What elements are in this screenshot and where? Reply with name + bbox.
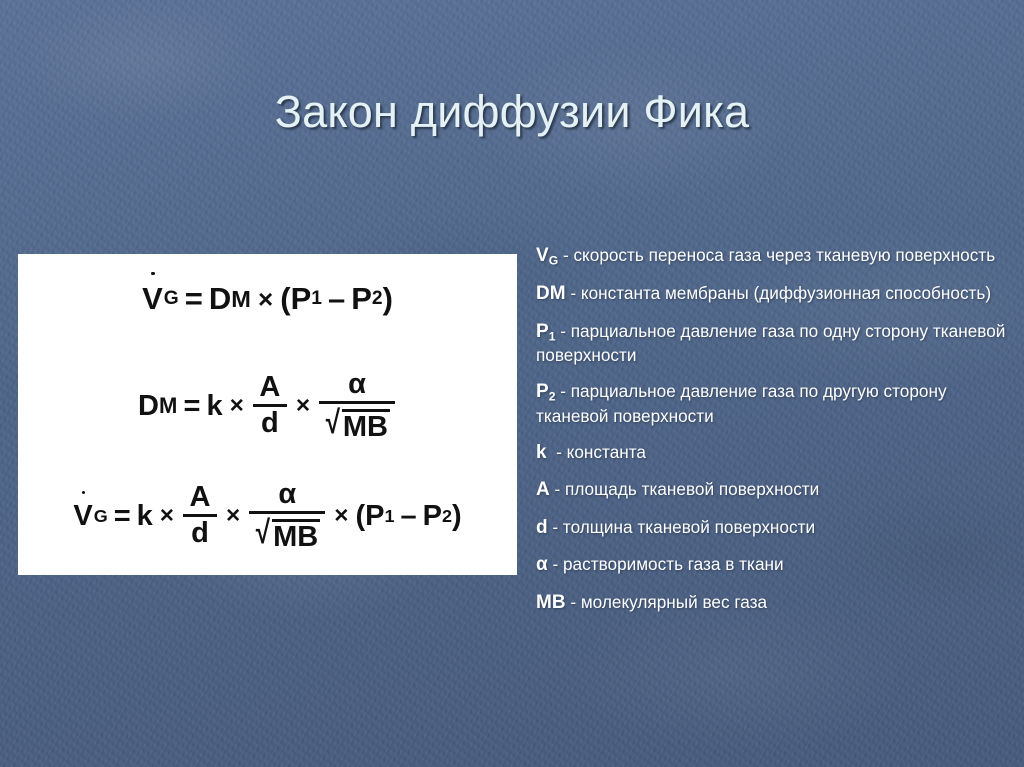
legend-description-p2: парциальное давление газа по другую стор… bbox=[536, 381, 947, 425]
legend-dash-vg: - bbox=[563, 245, 569, 265]
formula-3-numerator-a: A bbox=[185, 483, 216, 514]
formula-3-denominator-d: d bbox=[186, 517, 214, 549]
formula-3-close-paren: ) bbox=[452, 500, 462, 533]
legend-item-alpha: α - растворимость газа в ткани bbox=[536, 552, 1006, 577]
legend-description-p1: парциальное давление газа по одну сторон… bbox=[536, 321, 1005, 365]
formula-2-radical-sign: √ bbox=[326, 408, 340, 438]
formula-3-fraction-a-over-d: A d bbox=[183, 483, 217, 548]
legend-symbol-mb: MB bbox=[536, 592, 566, 613]
formula-2-denominator-sqrt: √MB bbox=[319, 404, 395, 443]
legend-dash-dm: - bbox=[570, 283, 576, 303]
sqrt-icon: √MB bbox=[254, 516, 320, 553]
legend-description-d: толщина тканевой поверхности bbox=[563, 517, 815, 537]
legend-item-dm: DM - константа мембраны (диффузионная сп… bbox=[536, 281, 1006, 306]
formula-2-dm-letter: D bbox=[138, 390, 159, 423]
formula-3: VG = k × A d × α √MB × (P1 – P bbox=[18, 470, 517, 562]
legend-symbol-dm-letter: DM bbox=[536, 283, 566, 304]
legend-symbol-a-letter: A bbox=[536, 479, 550, 500]
formula-3-times-1: × bbox=[153, 502, 181, 530]
formula-1-v-dot: V bbox=[142, 281, 164, 317]
legend-symbol-k: k bbox=[536, 442, 547, 463]
legend-item-vg: VG - скорость переноса газа через тканев… bbox=[536, 243, 1006, 268]
legend-dash-a: - bbox=[555, 479, 561, 499]
formula-2-numerator-a: A bbox=[254, 373, 285, 404]
legend-description-dm: константа мембраны (диффузионная способн… bbox=[581, 283, 991, 303]
legend-symbol-p2: P2 bbox=[536, 381, 555, 402]
formula-3-times-2: × bbox=[219, 502, 247, 530]
formula-1-p1-subscript: 1 bbox=[311, 288, 322, 310]
legend-symbol-alpha: α bbox=[536, 554, 548, 575]
formula-3-denominator-sqrt: √MB bbox=[249, 514, 325, 553]
legend-description-a: площадь тканевой поверхности bbox=[565, 479, 819, 499]
legend-symbol-d-letter: d bbox=[536, 517, 548, 538]
slide-canvas: Закон диффузии Фика VG = DM × (P1 – P2) … bbox=[0, 0, 1024, 767]
formula-1-v-subscript: G bbox=[164, 288, 179, 310]
sqrt-icon: √MB bbox=[324, 406, 390, 443]
legend-item-d: d - толщина тканевой поверхности bbox=[536, 515, 1006, 540]
legend-symbol-p2-letter: P bbox=[536, 381, 549, 402]
legend-dash-p1: - bbox=[560, 321, 566, 341]
legend-symbol-vg-subscript: G bbox=[549, 253, 558, 267]
formula-2: DM = k × A d × α √MB bbox=[18, 360, 517, 452]
legend-symbol-d: d bbox=[536, 517, 548, 538]
formula-3-minus: – bbox=[394, 500, 422, 533]
formula-3-radicand-mb: MB bbox=[272, 519, 320, 553]
legend-dash-mb: - bbox=[570, 592, 576, 612]
legend-item-k: k - константа bbox=[536, 440, 1006, 465]
legend-symbol-mb-letter: MB bbox=[536, 592, 566, 613]
legend-dash-d: - bbox=[552, 517, 558, 537]
legend-dash-alpha: - bbox=[552, 554, 558, 574]
formula-1-close-paren: ) bbox=[383, 281, 393, 317]
legend-symbol-vg-letter: V bbox=[536, 245, 549, 266]
formula-1-minus: – bbox=[322, 281, 351, 317]
formula-2-radicand-mb: MB bbox=[342, 409, 390, 443]
legend-description-vg: скорость переноса газа через тканевую по… bbox=[573, 245, 995, 265]
legend-item-p1: P1 - парциальное давление газа по одну с… bbox=[536, 319, 1006, 367]
formula-3-fraction-alpha-over-sqrt-mb: α √MB bbox=[249, 480, 325, 552]
legend-description-mb: молекулярный вес газа bbox=[581, 592, 767, 612]
formula-1-equals: = bbox=[179, 281, 209, 317]
legend-symbol-a: A bbox=[536, 479, 550, 500]
formula-1-p2: P bbox=[351, 281, 372, 317]
formula-3-p1: P bbox=[365, 500, 384, 533]
formula-1: VG = DM × (P1 – P2) bbox=[18, 268, 517, 330]
legend-symbol-alpha-letter: α bbox=[536, 554, 548, 575]
formula-3-v-dot: V bbox=[73, 500, 93, 533]
formula-3-radical-sign: √ bbox=[256, 518, 270, 548]
formula-2-denominator-d: d bbox=[256, 407, 284, 439]
formula-3-p2-subscript: 2 bbox=[442, 506, 452, 527]
formula-3-times-3: × bbox=[327, 502, 355, 530]
formula-1-dm-subscript: M bbox=[231, 286, 251, 313]
formula-2-equals: = bbox=[178, 390, 207, 423]
formula-1-open-paren: ( bbox=[280, 281, 290, 317]
legend-symbol-p1: P1 bbox=[536, 321, 555, 342]
formula-2-numerator-alpha: α bbox=[343, 370, 371, 401]
formula-1-p1: P bbox=[291, 281, 312, 317]
legend-symbol-dm: DM bbox=[536, 283, 566, 304]
formula-panel: VG = DM × (P1 – P2) DM = k × A d × α bbox=[18, 254, 517, 575]
legend-symbol-p1-subscript: 1 bbox=[549, 329, 556, 343]
formula-3-k: k bbox=[137, 500, 153, 533]
formula-3-open-paren: ( bbox=[355, 500, 365, 533]
legend-symbol-k-letter: k bbox=[536, 442, 547, 463]
formula-2-times-2: × bbox=[289, 392, 317, 420]
formula-2-k: k bbox=[206, 390, 222, 423]
formula-3-numerator-alpha: α bbox=[273, 480, 301, 511]
formula-3-p2: P bbox=[423, 500, 442, 533]
formula-2-dm-subscript: M bbox=[159, 393, 178, 419]
formula-3-equals: = bbox=[108, 500, 137, 533]
formula-2-times-1: × bbox=[223, 392, 251, 420]
formula-1-dm-letter: D bbox=[209, 281, 231, 317]
legend-dash-p2: - bbox=[560, 381, 566, 401]
legend-symbol-vg: VG bbox=[536, 245, 558, 266]
formula-3-v-subscript: G bbox=[94, 506, 108, 527]
formula-2-fraction-alpha-over-sqrt-mb: α √MB bbox=[319, 370, 395, 442]
formula-2-fraction-a-over-d: A d bbox=[253, 373, 287, 438]
legend-dash-k: - bbox=[556, 442, 562, 462]
legend-list: VG - скорость переноса газа через тканев… bbox=[536, 243, 1006, 628]
page-title: Закон диффузии Фика bbox=[0, 86, 1024, 138]
legend-description-alpha: растворимость газа в ткани bbox=[563, 554, 784, 574]
formula-1-times: × bbox=[251, 284, 280, 315]
legend-symbol-p2-subscript: 2 bbox=[549, 390, 556, 404]
formula-3-p1-subscript: 1 bbox=[384, 506, 394, 527]
legend-symbol-p1-letter: P bbox=[536, 321, 549, 342]
legend-item-a: A - площадь тканевой поверхности bbox=[536, 477, 1006, 502]
legend-item-mb: MB - молекулярный вес газа bbox=[536, 590, 1006, 615]
legend-item-p2: P2 - парциальное давление газа по другую… bbox=[536, 379, 1006, 427]
formula-1-p2-subscript: 2 bbox=[372, 288, 383, 310]
legend-description-k: константа bbox=[567, 442, 646, 462]
